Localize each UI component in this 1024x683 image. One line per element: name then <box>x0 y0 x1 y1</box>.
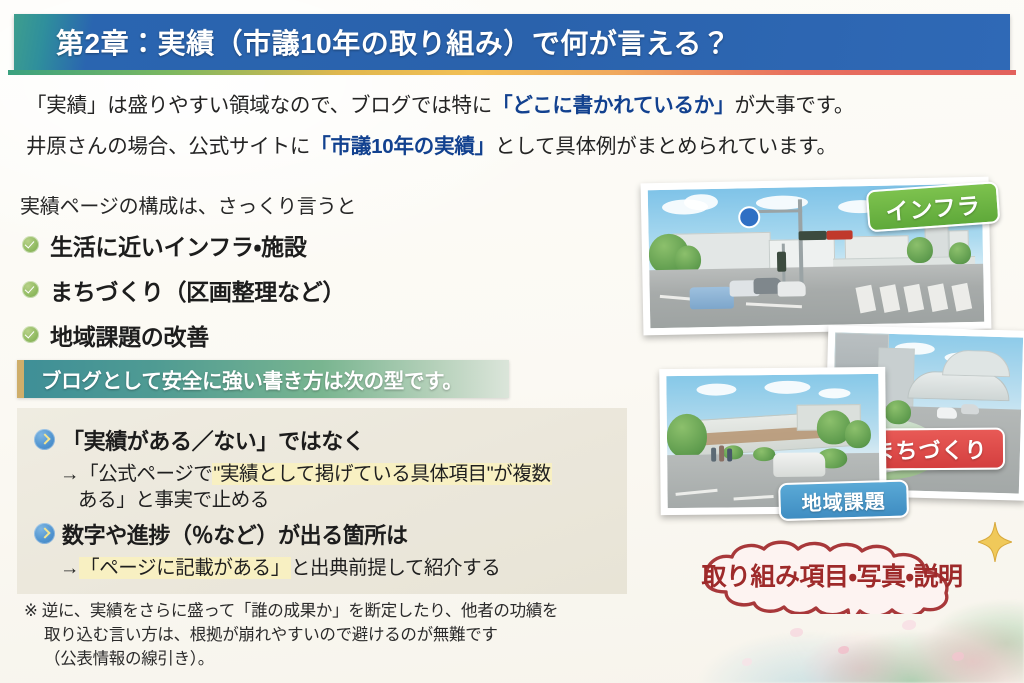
list-item-label: 生活に近いインフラ・施設 <box>50 228 307 262</box>
chapter-banner: 第2章：実績（市議10年の取り組み）で何が言える？ <box>14 14 1010 70</box>
detail-suffix: と出典前提して紹介する <box>291 557 501 579</box>
intro-1-text-b: が大事です。 <box>734 94 854 117</box>
green-subheading-band: ブログとして安全に強い書き方は次の型です。 <box>17 360 509 398</box>
photo-shopping-street: 地域課題 <box>659 367 887 515</box>
intro-2-text-b: として具体例がまとめられています。 <box>495 135 837 158</box>
page-title: 第2章：実績（市議10年の取り組み）で何が言える？ <box>56 22 730 62</box>
structure-checklist: 生活に近いインフラ・施設 まちづくり（区画整理など） 地域課題の改善 <box>22 222 622 357</box>
intro-paragraphs: 「実績」は盛りやすい領域なので、ブログでは特に「どこに書かれているか」が大事です… <box>26 92 926 175</box>
chevron-right-icon <box>34 523 55 544</box>
intro-1-highlight: 「どこに書かれているか」 <box>492 94 734 117</box>
guidance-heading-label: 数字や進捗（％など）が出る箇所は <box>62 518 408 550</box>
footnote-line-1: ※ 逆に、実績をさらに盛って「誰の成果か」を断定したり、他者の功績を <box>24 602 558 620</box>
list-item: まちづくり（区画整理など） <box>22 267 622 312</box>
guidance-detail-line: →「ページに記載がある」と出典前提して紹介する <box>60 556 634 582</box>
photo-collage: インフラ まちづくり <box>636 176 1014 536</box>
intro-2-text-a: 井原さんの場合、公式サイトに <box>26 135 310 158</box>
guidance-heading-row: 「実績がある／ない」ではなく <box>34 424 634 456</box>
guidance-detail-line: →「公式ページで"実績として掲げている具体項目"が複数 <box>60 462 634 488</box>
footnote-line-3: （公表情報の線引き）。 <box>44 648 624 672</box>
callout-label: 取り組み項目・写真・説明 <box>672 557 992 593</box>
list-lead-in: 実績ページの構成は、さっくり言うと <box>20 190 356 219</box>
detail-highlight: "実績として掲げている具体項目"が複数 <box>212 463 551 485</box>
detail-highlight: 「ページに記載がある」 <box>79 557 291 579</box>
detail-prefix: → <box>60 557 79 579</box>
chevron-right-icon <box>34 429 55 450</box>
callout-bubble: 取り組み項目・写真・説明 <box>672 540 992 614</box>
intro-line-2: 井原さんの場合、公式サイトに「市議10年の実績」として具体例がまとめられています… <box>26 133 926 160</box>
intro-line-1: 「実績」は盛りやすい領域なので、ブログでは特に「どこに書かれているか」が大事です… <box>26 92 926 119</box>
list-item: 地域課題の改善 <box>22 312 622 357</box>
footnote-line-2: 取り込む言い方は、根拠が崩れやすいので避けるのが無難です <box>44 624 624 648</box>
guidance-block-2: 数字や進捗（％など）が出る箇所は →「ページに記載がある」と出典前提して紹介する <box>34 518 634 582</box>
check-circle-icon <box>22 281 39 298</box>
guidance-heading-label: 「実績がある／ない」ではなく <box>62 424 364 456</box>
accent-strip <box>8 70 1016 75</box>
footnote: ※ 逆に、実績をさらに盛って「誰の成果か」を断定したり、他者の功績を 取り込む言… <box>24 600 624 672</box>
intro-1-text-a: 「実績」は盛りやすい領域なので、ブログでは特に <box>26 94 492 117</box>
guidance-block-1: 「実績がある／ない」ではなく →「公式ページで"実績として掲げている具体項目"が… <box>34 424 634 514</box>
green-subheading-label: ブログとして安全に強い書き方は次の型です。 <box>41 364 463 394</box>
list-item-label: まちづくり（区画整理など） <box>50 273 345 307</box>
guidance-detail-line-2: ある」と事実で止める <box>78 488 634 514</box>
check-circle-icon <box>22 236 39 253</box>
intro-2-highlight: 「市議10年の実績」 <box>310 135 495 158</box>
guidance-heading-row: 数字や進捗（％など）が出る箇所は <box>34 518 634 550</box>
check-circle-icon <box>22 326 39 343</box>
photo-intersection: インフラ <box>641 177 992 336</box>
badge-chiiki-kadai: 地域課題 <box>778 479 909 521</box>
list-item-label: 地域課題の改善 <box>50 318 209 352</box>
detail-prefix: →「公式ページで <box>60 463 212 485</box>
sparkle-icon <box>978 522 1012 562</box>
list-item: 生活に近いインフラ・施設 <box>22 222 622 267</box>
